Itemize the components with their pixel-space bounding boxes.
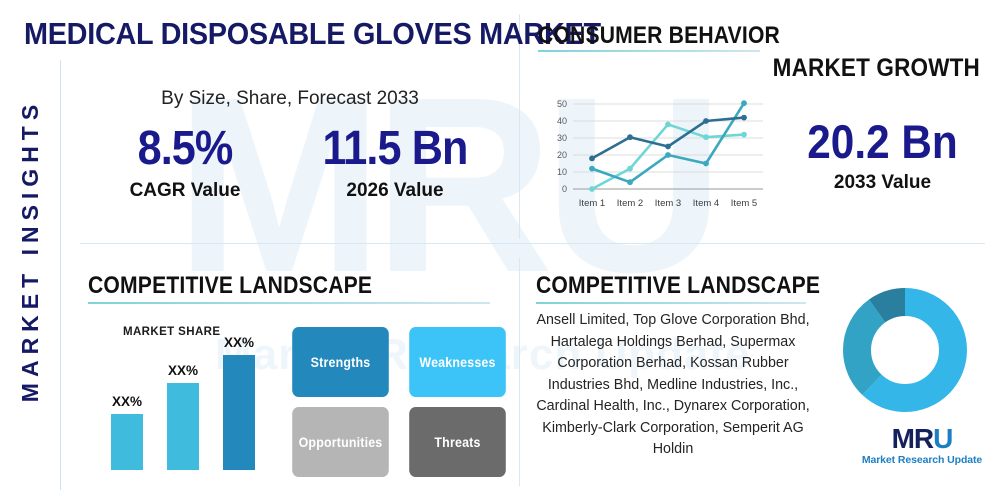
- market-growth-value-label: 2033 Value: [770, 172, 995, 194]
- svg-text:Item 5: Item 5: [731, 198, 757, 209]
- bar-label-3: XX%: [209, 335, 269, 350]
- svg-text:Item 4: Item 4: [693, 198, 719, 209]
- bar-rect-1: [111, 414, 143, 470]
- bar-item-1: XX%: [111, 414, 143, 470]
- consumer-behavior-underline: [538, 50, 760, 52]
- competitive-right-underline: [536, 302, 806, 304]
- svg-text:10: 10: [557, 167, 567, 177]
- kpi-2026-value: 11.5 Bn: [301, 120, 490, 178]
- svg-text:50: 50: [557, 99, 567, 109]
- section-heading-competitive-right: COMPETITIVE LANDSCAPE: [536, 272, 820, 300]
- kpi-2026-label: 2026 Value: [290, 180, 500, 202]
- sidebar-label-text: MARKET INSIGHTS: [18, 98, 45, 401]
- bar-rect-2: [167, 383, 199, 470]
- svg-text:40: 40: [557, 116, 567, 126]
- line-chart: 50 40 30 20 10 0 Item 1 Item 2 Item 3 It…: [545, 96, 770, 214]
- horizontal-divider: [80, 243, 985, 244]
- market-growth-label: MARKET GROWTH: [656, 54, 980, 83]
- mru-logo-tagline: Market Research Update: [848, 454, 996, 466]
- page-subtitle: By Size, Share, Forecast 2033: [80, 88, 500, 110]
- svg-text:20: 20: [557, 150, 567, 160]
- line-chart-y-ticks: 50 40 30 20 10 0: [557, 99, 567, 194]
- swot-threats-label: Threats: [434, 435, 480, 450]
- svg-text:Item 2: Item 2: [617, 198, 643, 209]
- kpi-cagr-value: 8.5%: [91, 120, 280, 178]
- mru-logo: MRU Market Research Update: [848, 424, 996, 466]
- competitive-left-underline: [88, 302, 490, 304]
- bar-rect-3: [223, 355, 255, 470]
- sidebar-vertical-label: MARKET INSIGHTS: [0, 0, 62, 500]
- swot-weaknesses-label: Weaknesses: [419, 355, 495, 370]
- page-title: MEDICAL DISPOSABLE GLOVES MARKET: [24, 16, 484, 52]
- bar-item-3: XX%: [223, 355, 255, 470]
- swot-weaknesses[interactable]: Weaknesses: [409, 327, 506, 397]
- section-heading-competitive-left: COMPETITIVE LANDSCAPE: [88, 272, 372, 300]
- donut-chart: [835, 280, 975, 420]
- svg-text:0: 0: [562, 184, 567, 194]
- kpi-cagr: 8.5% CAGR Value: [80, 120, 290, 202]
- kpi-2026: 11.5 Bn 2026 Value: [290, 120, 500, 202]
- swot-strengths-label: Strengths: [311, 355, 371, 370]
- swot-strengths[interactable]: Strengths: [292, 327, 389, 397]
- kpi-cagr-label: CAGR Value: [80, 180, 290, 202]
- kpi-row: 8.5% CAGR Value 11.5 Bn 2026 Value: [80, 120, 500, 202]
- line-chart-x-ticks: Item 1 Item 2 Item 3 Item 4 Item 5: [579, 198, 757, 209]
- market-share-bar-chart: XX% XX% XX%: [105, 340, 280, 470]
- swot-opportunities-label: Opportunities: [299, 435, 383, 450]
- svg-text:Item 1: Item 1: [579, 198, 605, 209]
- market-share-label: MARKET SHARE: [123, 326, 220, 338]
- svg-text:Item 3: Item 3: [655, 198, 681, 209]
- svg-text:30: 30: [557, 133, 567, 143]
- mru-logo-mark: MRU: [848, 424, 996, 454]
- vertical-divider-bottom: [519, 258, 520, 486]
- bar-label-1: XX%: [97, 394, 157, 409]
- mru-logo-mr: MR: [892, 423, 934, 454]
- swot-opportunities[interactable]: Opportunities: [292, 407, 389, 477]
- swot-threats[interactable]: Threats: [409, 407, 506, 477]
- swot-matrix: Strengths Weaknesses Opportunities Threa…: [288, 327, 510, 477]
- mru-logo-u: U: [933, 423, 952, 454]
- bar-item-2: XX%: [167, 383, 199, 470]
- section-heading-consumer-behavior: CONSUMER BEHAVIOR: [538, 22, 780, 50]
- bar-label-2: XX%: [153, 363, 213, 378]
- market-growth-value: 20.2 Bn: [781, 115, 984, 169]
- company-list: Ansell Limited, Top Glove Corporation Bh…: [533, 310, 813, 461]
- infographic-page: MRU Market Research Update MARKET INSIGH…: [0, 0, 1000, 500]
